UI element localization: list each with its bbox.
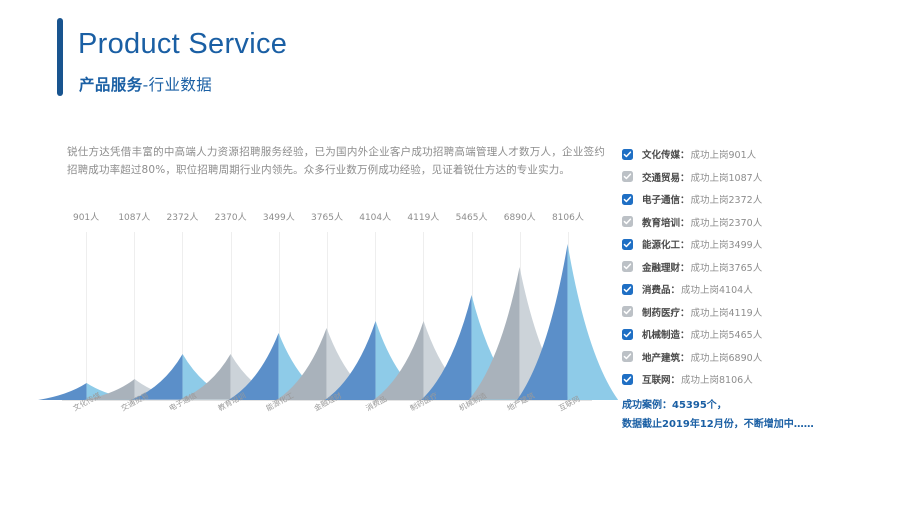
- footnote-line-2: 数据截止2019年12月份，不断增加中……: [622, 415, 892, 434]
- intro-paragraph: 锐仕方达凭借丰富的中高端人力资源招聘服务经验，已为国内外企业客户成功招聘高端管理…: [67, 143, 605, 179]
- legend-item-value: 成功上岗4119人: [691, 305, 763, 319]
- legend-item-name: 机械制造：: [642, 327, 690, 341]
- legend-item[interactable]: 电子通信：成功上岗2372人: [622, 188, 884, 211]
- legend-item-name: 地产建筑：: [642, 350, 690, 364]
- chart-value-label: 3499人: [263, 210, 295, 223]
- legend-item-name: 教育培训：: [642, 215, 690, 229]
- footnote-line-1: 成功案例：45395个，: [622, 396, 892, 415]
- legend-item[interactable]: 交通贸易：成功上岗1087人: [622, 166, 884, 189]
- chart-gridline: [86, 232, 87, 400]
- footnote-block: 成功案例：45395个， 数据截止2019年12月份，不断增加中……: [622, 396, 892, 434]
- legend-item[interactable]: 能源化工：成功上岗3499人: [622, 233, 884, 256]
- legend-item[interactable]: 机械制造：成功上岗5465人: [622, 323, 884, 346]
- page-subtitle-main: 产品服务: [79, 76, 143, 94]
- legend-item[interactable]: 制药医疗：成功上岗4119人: [622, 301, 884, 324]
- legend-item-name: 消费品：: [642, 282, 680, 296]
- checkbox-checked-blue-icon[interactable]: [622, 194, 633, 205]
- checkbox-checked-blue-icon[interactable]: [622, 329, 633, 340]
- legend-item-value: 成功上岗5465人: [691, 327, 763, 341]
- chart-peak: [517, 244, 618, 400]
- checkbox-checked-gray-icon[interactable]: [622, 306, 633, 317]
- legend-item-value: 成功上岗901人: [691, 147, 757, 161]
- legend-item-name: 文化传媒：: [642, 147, 690, 161]
- legend-item-value: 成功上岗3499人: [691, 237, 763, 251]
- checkbox-checked-blue-icon[interactable]: [622, 239, 633, 250]
- chart-value-label: 4119人: [407, 210, 439, 223]
- chart-value-label: 901人: [73, 210, 99, 223]
- legend-item-value: 成功上岗8106人: [681, 372, 753, 386]
- chart-value-label: 6890人: [504, 210, 536, 223]
- legend-item-value: 成功上岗1087人: [691, 170, 763, 184]
- legend-item-value: 成功上岗2372人: [691, 192, 763, 206]
- page-title-english: Product Service: [78, 28, 287, 61]
- slide-canvas: Product Service 产品服务-行业数据 锐仕方达凭借丰富的中高端人力…: [0, 0, 907, 510]
- legend-item[interactable]: 互联网：成功上岗8106人: [622, 368, 884, 391]
- legend-item-value: 成功上岗2370人: [691, 215, 763, 229]
- checkbox-checked-gray-icon[interactable]: [622, 216, 633, 227]
- checkbox-checked-blue-icon[interactable]: [622, 284, 633, 295]
- checkbox-checked-blue-icon[interactable]: [622, 149, 633, 160]
- legend-item-name: 电子通信：: [642, 192, 690, 206]
- chart-value-label: 8106人: [552, 210, 584, 223]
- chart-value-label: 4104人: [359, 210, 391, 223]
- legend-item[interactable]: 文化传媒：成功上岗901人: [622, 143, 884, 166]
- chart-value-labels: 901人1087人2372人2370人3499人3765人4104人4119人5…: [62, 210, 592, 230]
- checkbox-checked-gray-icon[interactable]: [622, 351, 633, 362]
- legend-item-name: 制药医疗：: [642, 305, 690, 319]
- chart-value-label: 2370人: [215, 210, 247, 223]
- legend-item-name: 交通贸易：: [642, 170, 690, 184]
- chart-value-label: 5465人: [456, 210, 488, 223]
- legend-item-value: 成功上岗4104人: [681, 282, 753, 296]
- legend-item-value: 成功上岗3765人: [691, 260, 763, 274]
- checkbox-checked-gray-icon[interactable]: [622, 171, 633, 182]
- chart-value-label: 1087人: [118, 210, 150, 223]
- legend-item[interactable]: 消费品：成功上岗4104人: [622, 278, 884, 301]
- checkbox-checked-blue-icon[interactable]: [622, 374, 633, 385]
- industry-legend-list: 文化传媒：成功上岗901人交通贸易：成功上岗1087人电子通信：成功上岗2372…: [622, 143, 884, 391]
- page-title-chinese: 产品服务-行业数据: [79, 73, 212, 95]
- industry-area-chart: 901人1087人2372人2370人3499人3765人4104人4119人5…: [62, 210, 592, 445]
- legend-item[interactable]: 教育培训：成功上岗2370人: [622, 211, 884, 234]
- legend-item-name: 能源化工：: [642, 237, 690, 251]
- chart-value-label: 2372人: [167, 210, 199, 223]
- legend-item-name: 互联网：: [642, 372, 680, 386]
- chart-category-labels: 文化传媒交通贸易电子通信教育培训能源化工金融理财消费品制药医疗机械制造地产建筑互…: [62, 404, 592, 444]
- chart-value-label: 3765人: [311, 210, 343, 223]
- page-subtitle-secondary: -行业数据: [143, 76, 213, 94]
- legend-item-name: 金融理财：: [642, 260, 690, 274]
- legend-item[interactable]: 金融理财：成功上岗3765人: [622, 256, 884, 279]
- title-accent-bar: [57, 18, 63, 96]
- chart-plot-area: [62, 232, 592, 400]
- legend-item-value: 成功上岗6890人: [691, 350, 763, 364]
- checkbox-checked-gray-icon[interactable]: [622, 261, 633, 272]
- legend-item[interactable]: 地产建筑：成功上岗6890人: [622, 346, 884, 369]
